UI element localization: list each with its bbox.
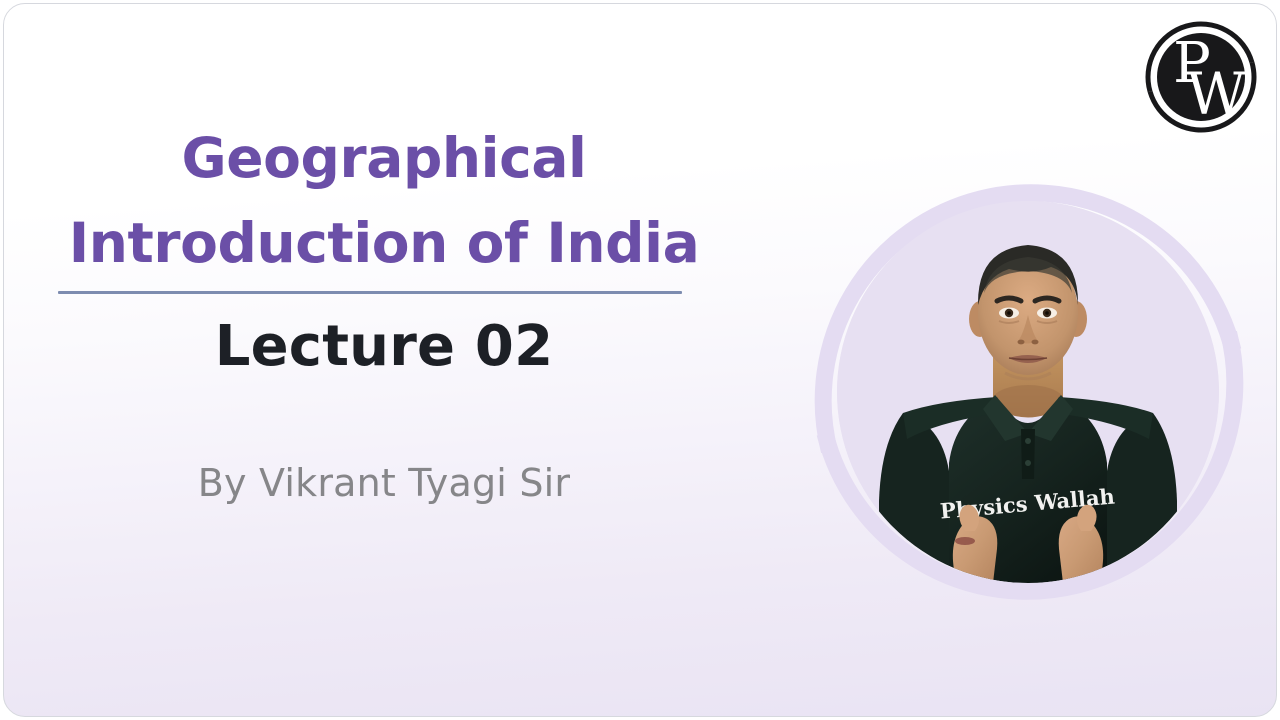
page-title: Geographical Introduction of India — [4, 116, 764, 287]
title-text-block: Geographical Introduction of India Lectu… — [4, 116, 764, 287]
title-divider — [58, 291, 682, 294]
presenter-name: By Vikrant Tyagi Sir — [4, 461, 764, 505]
presenter-portrait: Physics Wallah — [799, 149, 1259, 617]
title-slide: Geographical Introduction of India Lectu… — [3, 3, 1277, 717]
teacher-photo: Physics Wallah — [837, 201, 1219, 583]
title-line-2: Introduction of India — [4, 201, 764, 286]
pw-logo: P W — [1134, 10, 1268, 144]
title-line-1: Geographical — [4, 116, 764, 201]
lecture-number: Lecture 02 — [4, 314, 764, 379]
pw-logo-letter-w: W — [1186, 60, 1246, 128]
portrait-disc: Physics Wallah — [837, 201, 1219, 583]
